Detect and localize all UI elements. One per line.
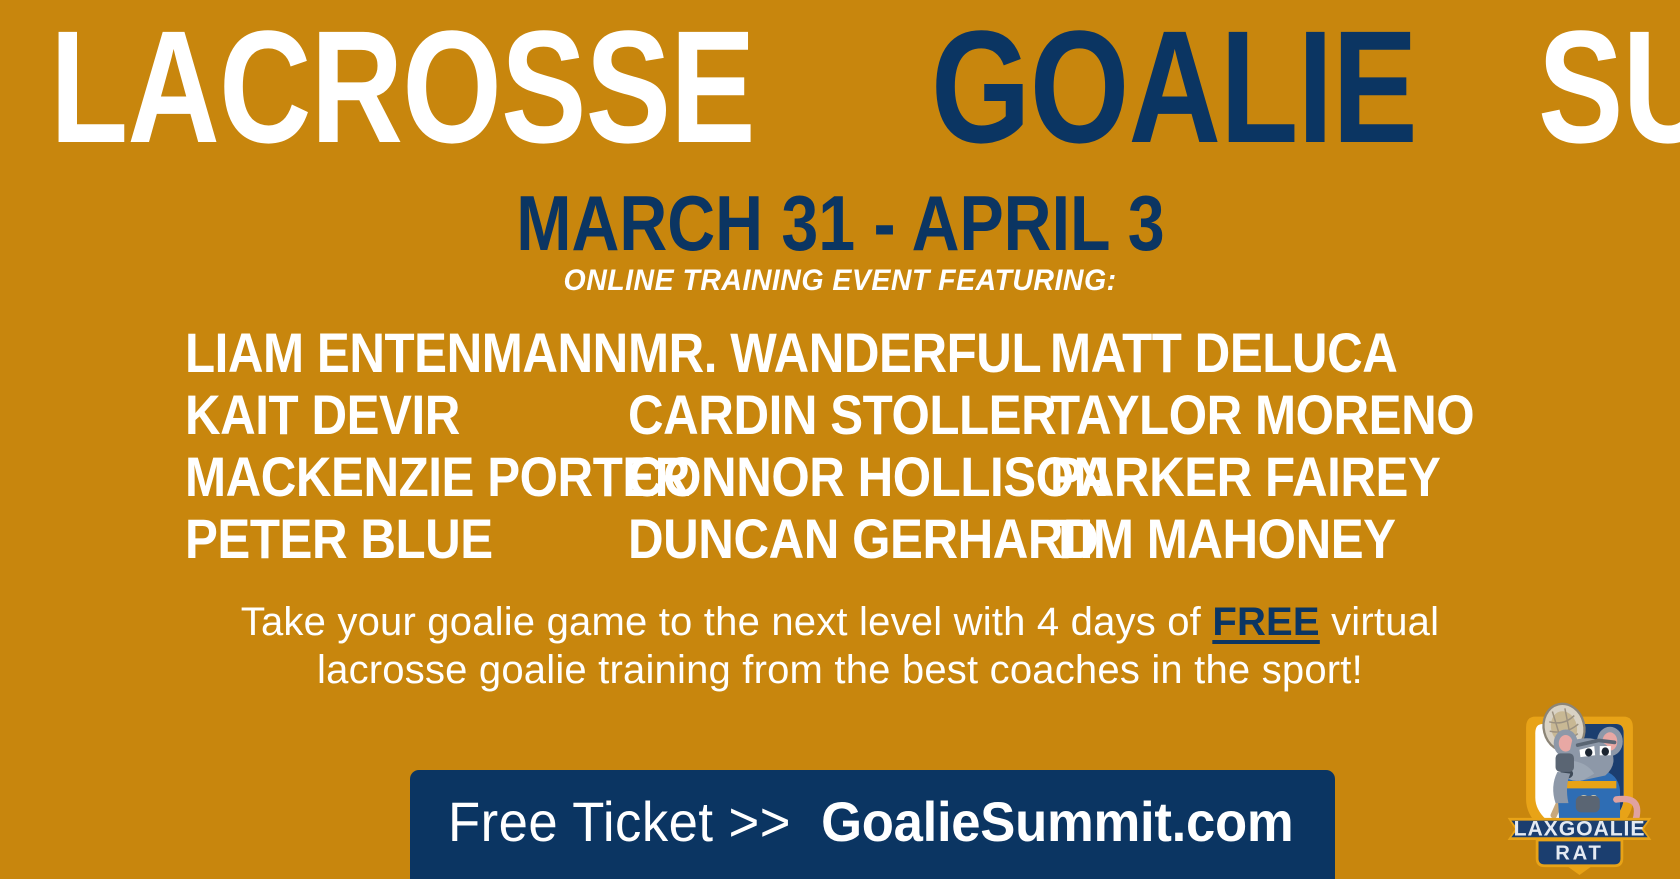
- speaker-name: TAYLOR MORENO: [1050, 384, 1358, 446]
- speaker-name: MR. WANDERFUL: [628, 322, 980, 384]
- featuring-label: ONLINE TRAINING EVENT FEATURING:: [0, 264, 1680, 298]
- logo-artwork: 30 LAXG: [1487, 700, 1672, 875]
- speaker-name: PETER BLUE: [185, 508, 555, 570]
- logo-name-top: LAXGOALIE: [1514, 817, 1646, 840]
- page-title: LACROSSEGOALIESUMMIT15: [50, 12, 1650, 162]
- speaker-name: TIM MAHONEY: [1050, 508, 1358, 570]
- speaker-list: LIAM ENTENMANN KAIT DEVIR MACKENZIE PORT…: [185, 322, 1400, 572]
- cta-url-label: GoalieSummit.com: [821, 789, 1293, 854]
- logo-name-bottom: RAT: [1555, 842, 1603, 864]
- speaker-column-1: LIAM ENTENMANN KAIT DEVIR MACKENZIE PORT…: [185, 322, 605, 570]
- title-word-lacrosse: LACROSSE: [50, 12, 755, 162]
- promo-poster: LACROSSEGOALIESUMMIT15 MARCH 31 - APRIL …: [0, 0, 1680, 879]
- logo-rat-pupil-right: [1602, 747, 1609, 755]
- description-text: Take your goalie game to the next level …: [0, 598, 1680, 694]
- title-word-goalie: GOALIE: [931, 12, 1417, 162]
- speaker-name: CONNOR HOLLISON: [628, 446, 980, 508]
- speaker-column-2: MR. WANDERFUL CARDIN STOLLER CONNOR HOLL…: [628, 322, 1028, 570]
- description-text-after: virtual: [1320, 600, 1439, 644]
- speaker-name: MACKENZIE PORTER: [185, 446, 555, 508]
- speaker-name: PARKER FAIREY: [1050, 446, 1358, 508]
- logo-rat-pupil-left: [1585, 748, 1592, 756]
- event-date: MARCH 31 - APRIL 3: [0, 178, 1680, 269]
- speaker-name: KAIT DEVIR: [185, 384, 555, 446]
- laxgoalierat-logo[interactable]: 30 LAXG: [1487, 700, 1672, 875]
- speaker-name: MATT DELUCA: [1050, 322, 1358, 384]
- logo-banner-point: [1567, 866, 1593, 875]
- logo-glove-upper: [1556, 753, 1574, 771]
- cta-prefix-label: Free Ticket >>: [448, 789, 791, 854]
- cta-button[interactable]: Free Ticket >>GoalieSummit.com: [410, 770, 1335, 879]
- logo-jersey-stripe: [1561, 781, 1616, 788]
- description-line-1: Take your goalie game to the next level …: [0, 598, 1680, 646]
- cta-label-group: Free Ticket >>GoalieSummit.com: [437, 789, 1308, 854]
- speaker-name: CARDIN STOLLER: [628, 384, 980, 446]
- description-text-before: Take your goalie game to the next level …: [241, 600, 1213, 644]
- speaker-name: LIAM ENTENMANN: [185, 322, 555, 384]
- title-word-summit: SUMMIT: [1538, 12, 1680, 162]
- description-line-2: lacrosse goalie training from the best c…: [0, 646, 1680, 694]
- speaker-column-3: MATT DELUCA TAYLOR MORENO PARKER FAIREY …: [1050, 322, 1400, 570]
- speaker-name: DUNCAN GERHARD: [628, 508, 980, 570]
- event-date-text: MARCH 31 - APRIL 3: [516, 178, 1164, 269]
- logo-glove-lower: [1576, 796, 1600, 813]
- free-emphasis: FREE: [1212, 600, 1319, 644]
- featuring-label-text: ONLINE TRAINING EVENT FEATURING:: [563, 264, 1116, 298]
